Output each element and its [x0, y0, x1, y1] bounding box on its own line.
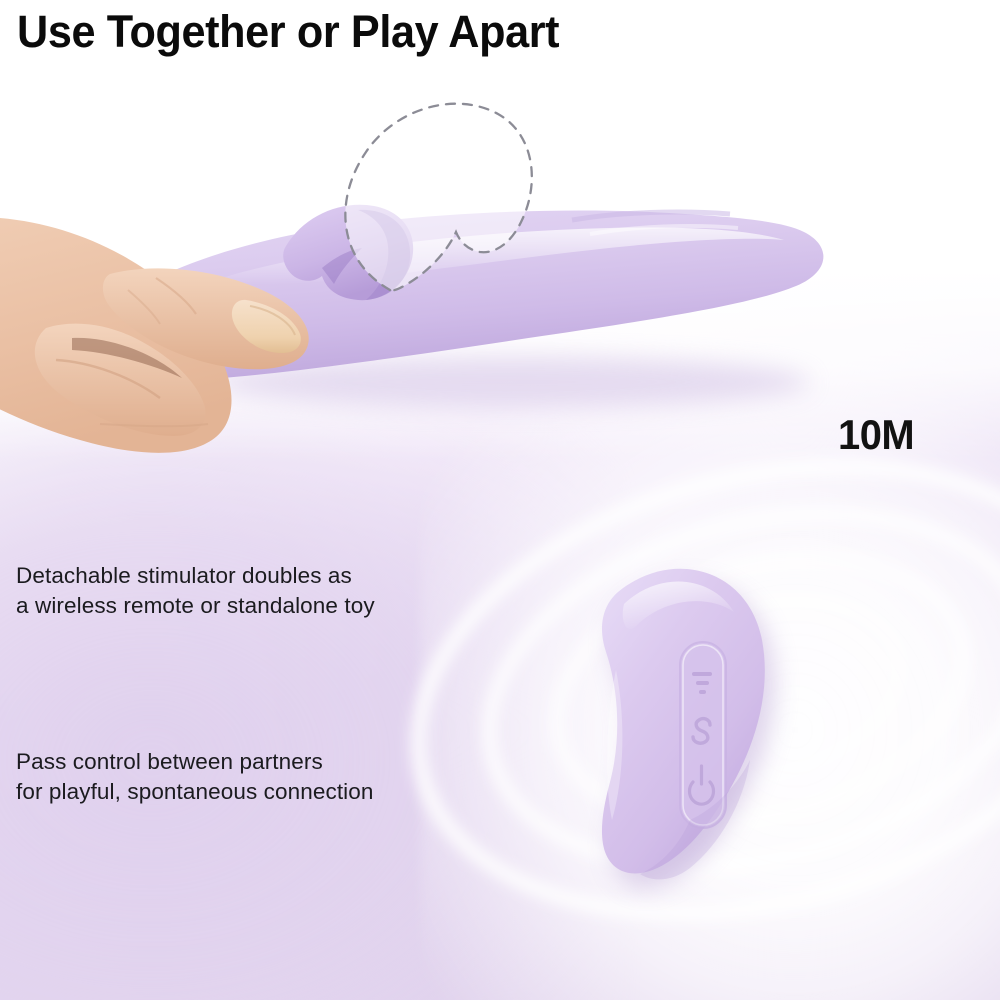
caption-detachable-line2: a wireless remote or standalone toy [16, 591, 375, 621]
product-image-canvas: Use Together or Play Apart 10M Detachabl… [0, 0, 1000, 1000]
caption-pass-control: Pass control between partners for playfu… [16, 747, 374, 807]
remote-control-capsule [680, 642, 726, 828]
caption-pass-control-line1: Pass control between partners [16, 747, 374, 777]
caption-detachable: Detachable stimulator doubles as a wirel… [16, 561, 375, 621]
range-badge: 10M [838, 411, 914, 459]
hand-holding-product [0, 178, 430, 478]
remote-stimulator [540, 520, 880, 920]
page-title: Use Together or Play Apart [17, 8, 559, 55]
caption-pass-control-line2: for playful, spontaneous connection [16, 777, 374, 807]
caption-detachable-line1: Detachable stimulator doubles as [16, 561, 375, 591]
